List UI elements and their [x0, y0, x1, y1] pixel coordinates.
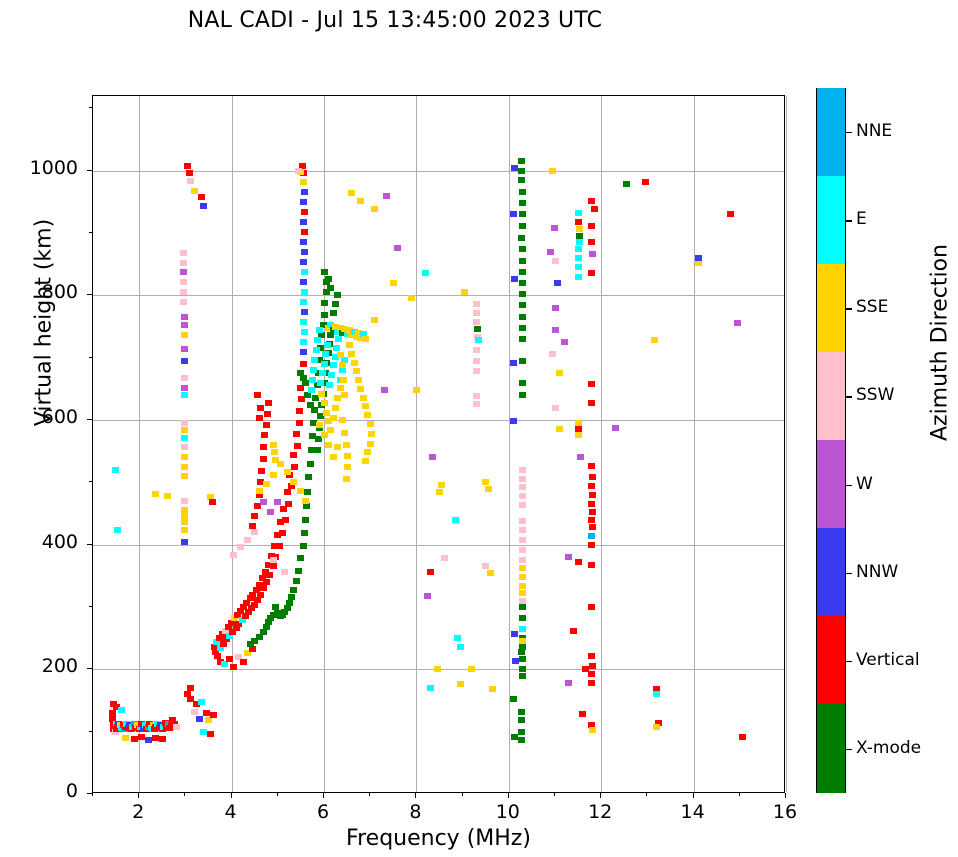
colorbar-label-nne: NNE [856, 121, 892, 141]
data-point [290, 452, 297, 458]
data-point [554, 280, 561, 286]
colorbar-segment-vertical [817, 616, 845, 704]
data-point [519, 638, 526, 644]
data-point [519, 380, 526, 386]
data-point [588, 671, 595, 677]
data-point [556, 370, 563, 376]
data-point [321, 432, 328, 438]
data-point [589, 509, 596, 515]
data-point [334, 292, 341, 298]
y-tick-mark [87, 793, 92, 794]
x-tick-mark [415, 793, 416, 798]
colorbar-tick [846, 749, 852, 750]
data-point [263, 422, 270, 428]
data-point [519, 291, 526, 297]
data-point [300, 279, 307, 285]
data-point [300, 349, 307, 355]
data-point [575, 559, 582, 565]
data-point [247, 641, 254, 647]
data-point [552, 258, 559, 264]
data-point [297, 370, 304, 376]
data-point [297, 488, 304, 494]
x-tick-label: 2 [108, 801, 168, 823]
data-point [518, 737, 525, 743]
data-point [159, 736, 166, 742]
data-point [301, 189, 308, 195]
data-point [364, 412, 371, 418]
data-point [588, 463, 595, 469]
x-minor-tick [554, 793, 555, 796]
data-point [734, 320, 741, 326]
data-point [457, 644, 464, 650]
data-point [362, 458, 369, 464]
x-tick-label: 4 [201, 801, 261, 823]
data-point [187, 178, 194, 184]
data-point [383, 193, 390, 199]
data-point [475, 337, 482, 343]
y-tick-mark [87, 668, 92, 669]
data-point [300, 179, 307, 185]
data-point [330, 415, 337, 421]
data-point [181, 375, 188, 381]
data-point [251, 529, 258, 535]
data-point [576, 226, 583, 232]
data-point [511, 276, 518, 282]
data-point [332, 301, 339, 307]
data-point [623, 181, 630, 187]
data-point [310, 367, 317, 373]
data-point [511, 631, 518, 637]
data-point [181, 539, 188, 545]
data-point [510, 418, 517, 424]
data-point [588, 400, 595, 406]
data-point [575, 274, 582, 280]
y-tick-mark [87, 419, 92, 420]
data-point [511, 734, 518, 740]
data-point [473, 301, 480, 307]
data-point [164, 493, 171, 499]
data-point [343, 476, 350, 482]
y-tick-mark [87, 544, 92, 545]
data-point [588, 533, 595, 539]
data-point [230, 552, 237, 558]
data-point [290, 587, 297, 593]
data-point [311, 407, 318, 413]
scatter-canvas [93, 96, 784, 792]
data-point [181, 322, 188, 328]
data-point [293, 431, 300, 437]
data-point [518, 235, 525, 241]
data-point [367, 441, 374, 447]
data-point [357, 386, 364, 392]
data-point [301, 269, 308, 275]
data-point [181, 358, 188, 364]
data-point [519, 574, 526, 580]
data-point [284, 469, 291, 475]
x-tick-mark [693, 793, 694, 798]
data-point [473, 401, 480, 407]
data-point [263, 481, 270, 487]
data-point [341, 430, 348, 436]
data-point [519, 527, 526, 533]
data-point [270, 557, 277, 563]
data-point [519, 358, 526, 364]
x-tick-mark [323, 793, 324, 798]
data-point [340, 377, 347, 383]
data-point [727, 211, 734, 217]
data-point [588, 501, 595, 507]
data-point [301, 209, 308, 215]
data-point [454, 635, 461, 641]
colorbar [816, 88, 846, 793]
data-point [187, 685, 194, 691]
data-point [300, 219, 307, 225]
data-point [739, 734, 746, 740]
data-point [335, 336, 342, 342]
data-point [519, 223, 526, 229]
data-point [122, 735, 129, 741]
data-point [519, 547, 526, 553]
data-point [317, 380, 324, 386]
y-axis-label: Virtual height (km) [32, 183, 57, 463]
data-point [348, 190, 355, 196]
x-minor-tick [462, 793, 463, 796]
data-point [518, 717, 525, 723]
data-point [612, 425, 619, 431]
data-point [207, 731, 214, 737]
data-point [181, 527, 188, 533]
data-point [237, 544, 244, 550]
colorbar-segment-w [817, 440, 845, 528]
data-point [300, 299, 307, 305]
data-point [519, 467, 526, 473]
data-point [270, 442, 277, 448]
colorbar-title: Azimuth Direction [928, 203, 953, 483]
data-point [519, 246, 526, 252]
data-point [577, 454, 584, 460]
data-point [360, 395, 367, 401]
colorbar-tick [846, 661, 852, 662]
data-point [258, 468, 265, 474]
data-point [254, 503, 261, 509]
data-point [519, 302, 526, 308]
data-point [152, 735, 159, 741]
data-point [651, 337, 658, 343]
data-point [519, 502, 526, 508]
data-point [173, 724, 180, 730]
x-tick-label: 10 [478, 801, 538, 823]
x-tick-label: 8 [385, 801, 445, 823]
data-point [341, 392, 348, 398]
data-point [519, 666, 526, 672]
data-point [249, 523, 256, 529]
data-point [436, 489, 443, 495]
data-point [288, 594, 295, 600]
data-point [591, 206, 598, 212]
data-point [114, 527, 121, 533]
data-point [549, 351, 556, 357]
data-point [321, 361, 328, 367]
data-point [588, 198, 595, 204]
data-point [214, 653, 221, 659]
data-point [334, 444, 341, 450]
x-tick-label: 14 [663, 801, 723, 823]
data-point [473, 393, 480, 399]
data-point [519, 598, 526, 604]
data-point [519, 280, 526, 286]
data-point [355, 377, 362, 383]
data-point [263, 579, 270, 585]
data-point [552, 405, 559, 411]
x-minor-tick [646, 793, 647, 796]
grid-line-vertical [786, 96, 787, 792]
data-point [296, 408, 303, 414]
data-point [323, 410, 330, 416]
data-point [551, 225, 558, 231]
data-point [285, 501, 292, 507]
data-point [186, 170, 193, 176]
data-point [346, 342, 353, 348]
colorbar-segment-nne [817, 88, 845, 176]
data-point [294, 443, 301, 449]
data-point [191, 188, 198, 194]
data-point [226, 656, 233, 662]
x-minor-tick [739, 793, 740, 796]
colorbar-label-w: W [856, 474, 873, 494]
data-point [181, 507, 188, 513]
data-point [565, 554, 572, 560]
data-point [461, 289, 468, 295]
colorbar-tick [846, 573, 852, 574]
data-point [519, 484, 526, 490]
data-point [518, 649, 525, 655]
data-point [588, 680, 595, 686]
data-point [301, 229, 308, 235]
data-point [364, 449, 371, 455]
data-point [286, 600, 293, 606]
data-point [256, 488, 263, 494]
data-point [290, 479, 297, 485]
data-point [519, 615, 526, 621]
data-point [309, 377, 316, 383]
data-point [181, 498, 188, 504]
data-point [468, 666, 475, 672]
data-point [438, 482, 445, 488]
data-point [575, 210, 582, 216]
data-point [519, 392, 526, 398]
data-point [589, 474, 596, 480]
data-point [576, 239, 583, 245]
data-point [321, 269, 328, 275]
data-point [314, 447, 321, 453]
data-point [308, 387, 315, 393]
data-point [260, 444, 267, 450]
colorbar-tick [846, 308, 852, 309]
data-point [271, 449, 278, 455]
data-point [519, 583, 526, 589]
data-point [291, 464, 298, 470]
data-point [181, 346, 188, 352]
data-point [210, 712, 217, 718]
data-point [473, 347, 480, 353]
data-point [362, 403, 369, 409]
data-point [240, 659, 247, 665]
data-point [519, 673, 526, 679]
data-point [575, 246, 582, 252]
data-point [519, 189, 526, 195]
data-point [256, 415, 263, 421]
data-point [519, 476, 526, 482]
data-point [267, 509, 274, 515]
data-point [582, 666, 589, 672]
data-point [326, 382, 333, 388]
data-point [300, 259, 307, 265]
data-point [519, 325, 526, 331]
data-point [270, 563, 277, 569]
data-point [284, 489, 291, 495]
data-point [337, 352, 344, 358]
data-point [333, 345, 340, 351]
data-point [588, 653, 595, 659]
data-point [251, 513, 258, 519]
data-point [281, 569, 288, 575]
data-point [575, 432, 582, 438]
colorbar-segment-e [817, 176, 845, 264]
data-point [390, 280, 397, 286]
data-point [519, 537, 526, 543]
x-tick-mark [600, 793, 601, 798]
data-point [305, 474, 312, 480]
data-point [642, 179, 649, 185]
data-point [424, 593, 431, 599]
data-point [518, 729, 525, 735]
data-point [332, 405, 339, 411]
data-point [230, 664, 237, 670]
colorbar-segment-ssw [817, 352, 845, 440]
data-point [427, 685, 434, 691]
data-point [180, 269, 187, 275]
data-point [473, 368, 480, 374]
data-point [274, 499, 281, 505]
data-point [330, 310, 337, 316]
data-point [322, 351, 329, 357]
x-tick-label: 12 [570, 801, 630, 823]
y-tick-label: 200 [0, 655, 78, 677]
colorbar-label-e: E [856, 209, 867, 229]
data-point [257, 405, 264, 411]
data-point [301, 309, 308, 315]
data-point [653, 691, 660, 697]
data-point [181, 314, 188, 320]
data-point [337, 385, 344, 391]
data-point [244, 537, 251, 543]
data-point [394, 245, 401, 251]
data-point [589, 251, 596, 257]
data-point [270, 472, 277, 478]
colorbar-segment-x-mode [817, 704, 845, 792]
data-point [181, 513, 188, 519]
data-point [339, 362, 346, 368]
data-point [588, 270, 595, 276]
data-point [319, 370, 326, 376]
data-point [261, 432, 268, 438]
colorbar-tick [846, 485, 852, 486]
y-tick-label: 400 [0, 531, 78, 553]
data-point [118, 707, 125, 713]
data-point [549, 168, 556, 174]
data-point [552, 305, 559, 311]
colorbar-label-vertical: Vertical [856, 650, 920, 670]
data-point [519, 211, 526, 217]
data-point [327, 427, 334, 433]
data-point [519, 336, 526, 342]
plot-area [92, 95, 785, 793]
data-point [510, 211, 517, 217]
y-minor-tick [89, 606, 92, 607]
data-point [324, 342, 331, 348]
data-point [353, 368, 360, 374]
x-minor-tick [92, 793, 93, 796]
data-point [348, 351, 355, 357]
y-minor-tick [89, 357, 92, 358]
x-minor-tick [277, 793, 278, 796]
x-minor-tick [369, 793, 370, 796]
data-point [588, 239, 595, 245]
colorbar-segment-nnw [817, 528, 845, 616]
x-minor-tick [184, 793, 185, 796]
data-point [519, 200, 526, 206]
colorbar-label-ssw: SSW [856, 385, 894, 405]
data-point [368, 431, 375, 437]
data-point [180, 260, 187, 266]
x-tick-label: 6 [293, 801, 353, 823]
data-point [327, 285, 334, 291]
data-point [589, 663, 596, 669]
data-point [181, 519, 188, 525]
colorbar-label-sse: SSE [856, 297, 888, 317]
data-point [330, 454, 337, 460]
data-point [191, 709, 198, 715]
data-point [300, 239, 307, 245]
colorbar-tick [846, 132, 852, 133]
data-point [318, 391, 325, 397]
data-point [301, 289, 308, 295]
data-point [473, 319, 480, 325]
data-point [343, 442, 350, 448]
data-point [653, 724, 660, 730]
data-point [575, 264, 582, 270]
data-point [295, 568, 302, 574]
data-point [109, 710, 116, 716]
data-point [301, 249, 308, 255]
x-tick-mark [231, 793, 232, 798]
data-point [266, 572, 273, 578]
data-point [556, 426, 563, 432]
y-minor-tick [89, 731, 92, 732]
data-point [181, 385, 188, 391]
data-point [316, 327, 323, 333]
data-point [277, 461, 284, 467]
data-point [330, 362, 337, 368]
x-tick-mark [138, 793, 139, 798]
data-point [297, 555, 304, 561]
y-tick-mark [87, 170, 92, 171]
data-point [588, 223, 595, 229]
data-point [304, 489, 311, 495]
data-point [547, 249, 554, 255]
data-point [138, 734, 145, 740]
data-point [209, 499, 216, 505]
